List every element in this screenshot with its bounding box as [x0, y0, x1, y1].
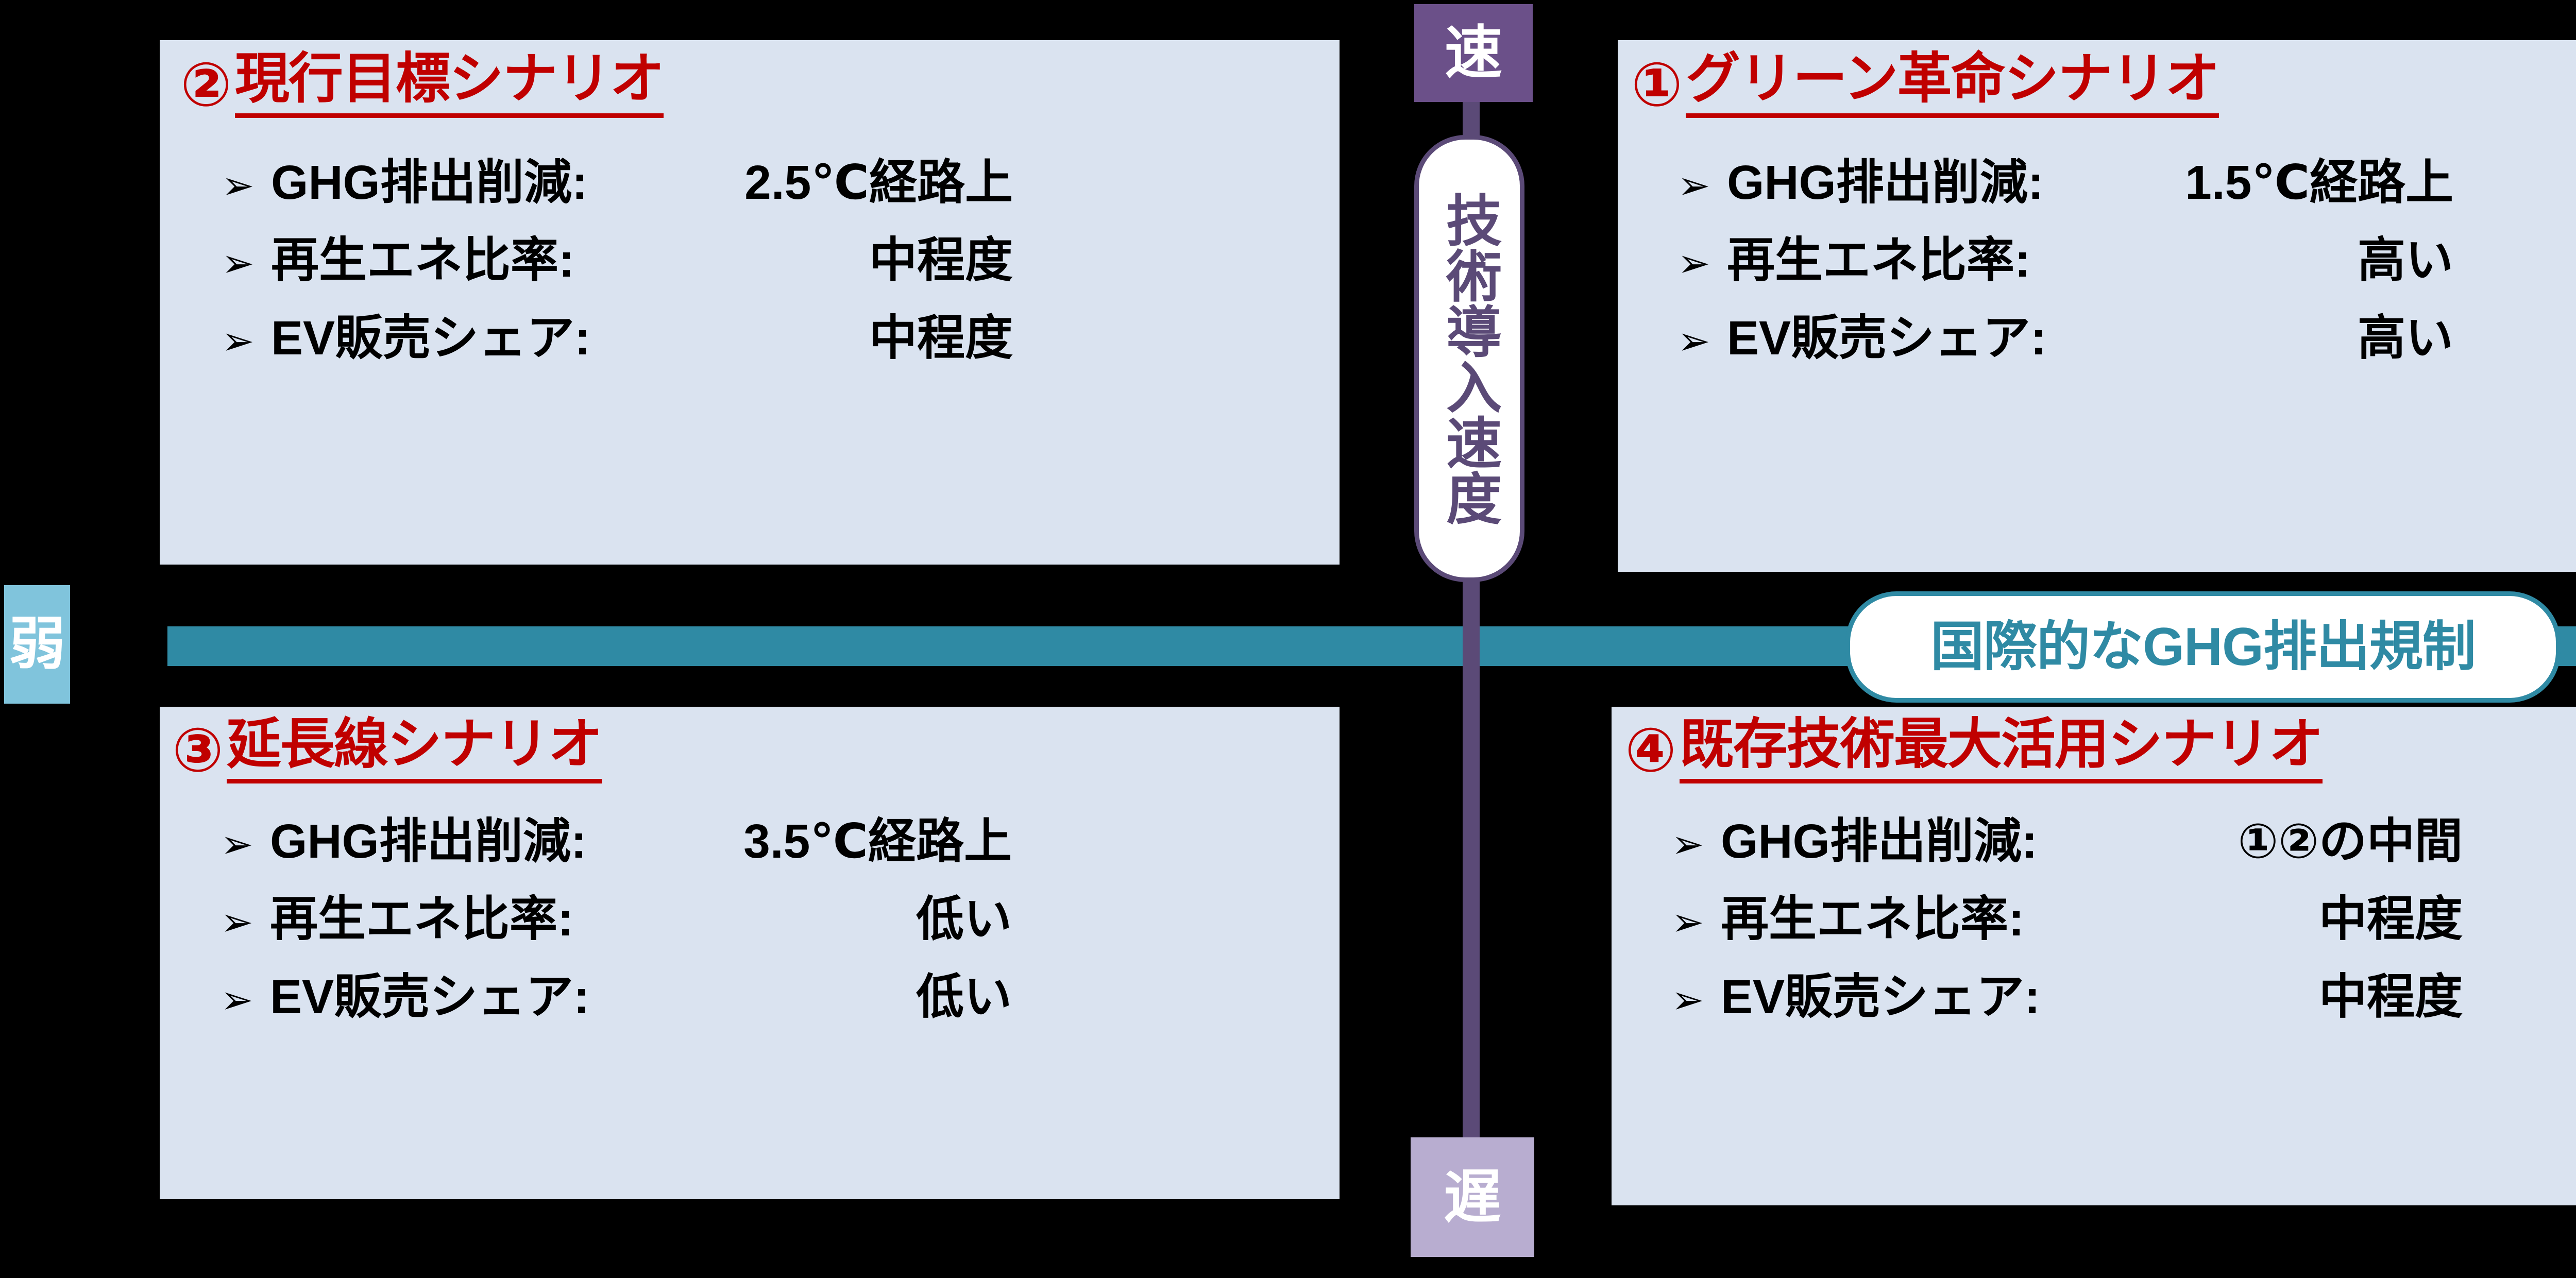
- quadrant-4-title: 既存技術最大活用シナリオ: [1680, 717, 2323, 783]
- metric-value: 高い: [2082, 314, 2453, 362]
- metric-label: EV販売シェア:: [1727, 314, 2082, 362]
- bullet-arrow-icon: ➢: [1671, 981, 1721, 1020]
- bullet-arrow-icon: ➢: [1677, 322, 1727, 361]
- quadrant-panel-4: ④ 既存技術最大活用シナリオ ➢ GHG排出削減: ①②の中間 ➢ 再生エネ比率…: [1612, 707, 2576, 1205]
- bullet-arrow-icon: ➢: [1671, 903, 1721, 942]
- metric-value: 中程度: [2081, 895, 2463, 943]
- list-item: ➢ EV販売シェア: 中程度: [1671, 973, 2463, 1021]
- metric-value: 中程度: [632, 236, 1013, 284]
- list-item: ➢ GHG排出削減: 2.5℃経路上: [222, 159, 1013, 207]
- bullet-arrow-icon: ➢: [1677, 244, 1727, 283]
- list-item: ➢ 再生エネ比率: 低い: [221, 895, 1012, 943]
- horizontal-axis-label-text: 国際的なGHG排出規制: [1930, 620, 2476, 674]
- metric-value: ①②の中間: [2081, 817, 2463, 865]
- vertical-axis-label-capsule: 技術導入速度: [1414, 135, 1524, 582]
- quadrant-2-number: ②: [180, 55, 232, 115]
- bullet-arrow-icon: ➢: [221, 981, 270, 1020]
- metric-label: EV販売シェア:: [271, 314, 632, 362]
- metric-label: 再生エネ比率:: [1727, 236, 2082, 284]
- metric-value: 中程度: [632, 314, 1013, 362]
- quadrant-4-bullets: ➢ GHG排出削減: ①②の中間 ➢ 再生エネ比率: 中程度 ➢ EV販売シェア…: [1671, 817, 2463, 1021]
- quadrant-1-heading: ① グリーン革命シナリオ: [1631, 52, 2219, 118]
- metric-value: 1.5℃経路上: [2082, 159, 2453, 207]
- quadrant-2-heading: ② 現行目標シナリオ: [180, 52, 664, 118]
- metric-label: GHG排出削減:: [1727, 159, 2082, 207]
- quadrant-3-title: 延長線シナリオ: [227, 717, 602, 783]
- metric-label: 再生エネ比率:: [271, 236, 632, 284]
- bullet-arrow-icon: ➢: [222, 322, 271, 361]
- list-item: ➢ EV販売シェア: 高い: [1677, 314, 2453, 362]
- quadrant-panel-1: ① グリーン革命シナリオ ➢ GHG排出削減: 1.5℃経路上 ➢ 再生エネ比率…: [1618, 40, 2576, 572]
- quadrant-2-title: 現行目標シナリオ: [235, 52, 664, 118]
- list-item: ➢ EV販売シェア: 中程度: [222, 314, 1013, 362]
- bullet-arrow-icon: ➢: [1671, 825, 1721, 864]
- quadrant-3-bullets: ➢ GHG排出削減: 3.5℃経路上 ➢ 再生エネ比率: 低い ➢ EV販売シェ…: [221, 817, 1012, 1021]
- list-item: ➢ 再生エネ比率: 中程度: [222, 236, 1013, 284]
- metric-label: 再生エネ比率:: [1721, 895, 2081, 943]
- list-item: ➢ 再生エネ比率: 高い: [1677, 236, 2453, 284]
- metric-value: 低い: [631, 973, 1012, 1021]
- quadrant-1-number: ①: [1631, 55, 1683, 115]
- metric-label: EV販売シェア:: [1721, 973, 2081, 1021]
- metric-label: GHG排出削減:: [1721, 817, 2081, 865]
- list-item: ➢ GHG排出削減: ①②の中間: [1671, 817, 2463, 865]
- quadrant-3-number: ③: [172, 720, 224, 781]
- list-item: ➢ EV販売シェア: 低い: [221, 973, 1012, 1021]
- bullet-arrow-icon: ➢: [222, 166, 271, 206]
- metric-label: GHG排出削減:: [270, 817, 631, 865]
- metric-value: 高い: [2082, 236, 2453, 284]
- bullet-arrow-icon: ➢: [221, 825, 270, 864]
- quadrant-4-number: ④: [1625, 720, 1676, 781]
- axis-label-weak: 弱: [4, 585, 70, 704]
- axis-label-fast-text: 速: [1445, 24, 1502, 82]
- axis-label-fast: 速: [1414, 4, 1533, 102]
- bullet-arrow-icon: ➢: [1677, 166, 1727, 206]
- quadrant-4-heading: ④ 既存技術最大活用シナリオ: [1625, 717, 2323, 783]
- vertical-axis-label-text: 技術導入速度: [1441, 192, 1498, 525]
- quadrant-2-bullets: ➢ GHG排出削減: 2.5℃経路上 ➢ 再生エネ比率: 中程度 ➢ EV販売シ…: [222, 159, 1013, 362]
- metric-value: 中程度: [2081, 973, 2463, 1021]
- list-item: ➢ 再生エネ比率: 中程度: [1671, 895, 2463, 943]
- metric-label: EV販売シェア:: [270, 973, 631, 1021]
- metric-value: 3.5℃経路上: [631, 817, 1012, 865]
- bullet-arrow-icon: ➢: [222, 244, 271, 283]
- quadrant-panel-3: ③ 延長線シナリオ ➢ GHG排出削減: 3.5℃経路上 ➢ 再生エネ比率: 低…: [160, 707, 1340, 1199]
- metric-label: 再生エネ比率:: [270, 895, 631, 943]
- quadrant-3-heading: ③ 延長線シナリオ: [172, 717, 602, 783]
- quadrant-1-bullets: ➢ GHG排出削減: 1.5℃経路上 ➢ 再生エネ比率: 高い ➢ EV販売シェ…: [1677, 159, 2453, 362]
- list-item: ➢ GHG排出削減: 3.5℃経路上: [221, 817, 1012, 865]
- list-item: ➢ GHG排出削減: 1.5℃経路上: [1677, 159, 2453, 207]
- metric-value: 低い: [631, 895, 1012, 943]
- axis-label-slow-text: 遅: [1444, 1168, 1501, 1226]
- quadrant-panel-2: ② 現行目標シナリオ ➢ GHG排出削減: 2.5℃経路上 ➢ 再生エネ比率: …: [160, 40, 1340, 565]
- metric-value: 2.5℃経路上: [632, 159, 1013, 207]
- bullet-arrow-icon: ➢: [221, 903, 270, 942]
- axis-label-weak-text: 弱: [9, 616, 65, 673]
- quadrant-1-title: グリーン革命シナリオ: [1686, 52, 2219, 118]
- metric-label: GHG排出削減:: [271, 159, 632, 207]
- horizontal-axis-label-capsule: 国際的なGHG排出規制: [1845, 591, 2561, 703]
- diagram-canvas: ② 現行目標シナリオ ➢ GHG排出削減: 2.5℃経路上 ➢ 再生エネ比率: …: [0, 0, 2576, 1278]
- axis-label-slow: 遅: [1411, 1137, 1534, 1257]
